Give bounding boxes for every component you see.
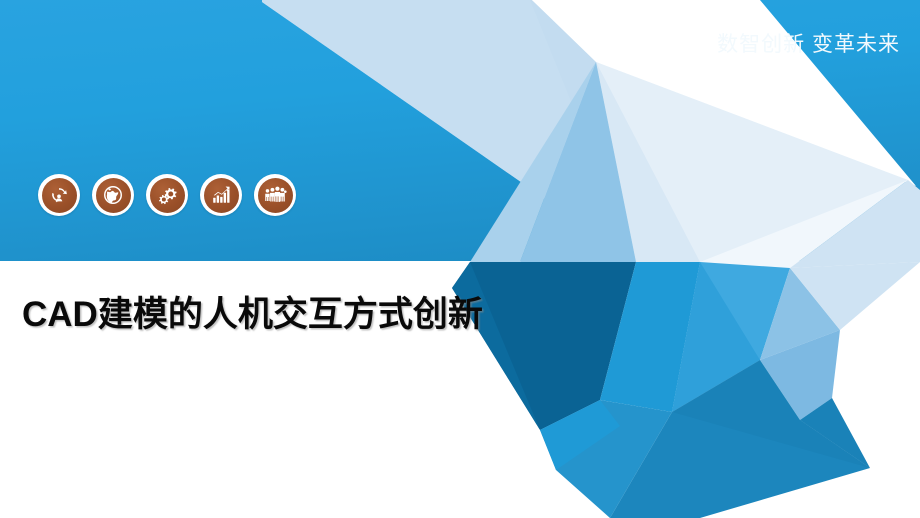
team-people-icon <box>258 178 293 213</box>
refresh-cycle-icon <box>42 178 77 213</box>
icon-badge-gears[interactable] <box>146 174 188 216</box>
icon-badge-bar-chart[interactable] <box>200 174 242 216</box>
page-title: CAD建模的人机交互方式创新 <box>22 290 542 340</box>
globe-icon <box>96 178 131 213</box>
slide-canvas: 数智创新 变革未来 <box>0 0 920 518</box>
tagline-text: 数智创新 变革未来 <box>717 28 900 58</box>
bar-chart-growth-icon <box>204 178 239 213</box>
icon-badge-team[interactable] <box>254 174 296 216</box>
icon-badge-refresh-cycle[interactable] <box>38 174 80 216</box>
gears-icon <box>150 178 185 213</box>
icon-badge-globe[interactable] <box>92 174 134 216</box>
low-poly-decoration <box>0 0 920 518</box>
icon-badge-row <box>38 174 296 216</box>
